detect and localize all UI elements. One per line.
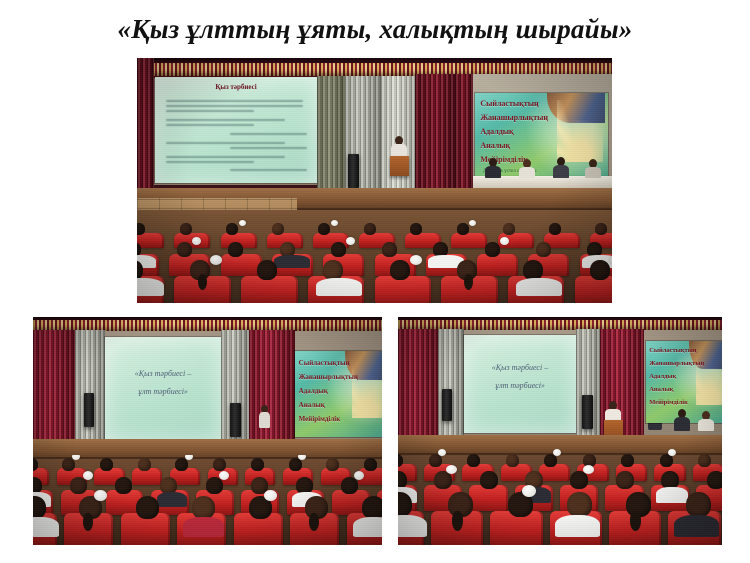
panelist-4 <box>585 159 601 178</box>
stage-figure <box>257 405 271 439</box>
presentation-slide: «Қыз ұлттың ұяты, халықтың шырайы» Қыз т… <box>0 0 750 563</box>
event-banner-bottom-left: Сыйластықтың Жанашырлықтың Адалдық Аналы… <box>295 351 382 437</box>
projection-screen-top: Қыз тәрбиесі <box>155 77 317 183</box>
slide-heading-text: Қыз тәрбиесі <box>155 83 317 91</box>
photo-stage-and-audience-right: «Қыз тәрбиесі – ұлт тәрбиесі» <box>398 317 722 545</box>
audience-seating-bottom-right <box>398 449 722 545</box>
curtain-center-right <box>415 74 457 206</box>
curtain-right <box>455 74 473 206</box>
panelist-1 <box>485 158 501 178</box>
projection-screen-bottom-right: «Қыз тәрбиесі – ұлт тәрбиесі» <box>464 335 576 433</box>
banner-line-4-br: Аналық <box>649 386 673 393</box>
stage-loudspeaker-left-icon <box>84 393 94 427</box>
hall-scene-bottom-right: «Қыз тәрбиесі – ұлт тәрбиесі» <box>398 317 722 545</box>
shanyrak-ornament-icon-br <box>696 348 722 405</box>
podium <box>390 156 409 176</box>
banner-line-1-br: Сыйластықтың <box>649 347 696 354</box>
stage-loudspeaker-right-icon-br <box>582 395 593 429</box>
screen-quote-line-1-br: «Қыз тәрбиесі – <box>464 363 576 372</box>
presenter-at-podium <box>387 136 411 176</box>
banner-line-3: Адалдық <box>480 127 513 136</box>
banner-line-4-bl: Аналық <box>299 401 325 409</box>
screen-quote-line-2-br: ұлт тәрбиесі» <box>464 381 576 390</box>
audience-seating-bottom-left <box>33 455 382 545</box>
projection-screen-bottom-left: «Қыз тәрбиесі – ұлт тәрбиесі» <box>105 337 221 441</box>
banner-line-3-bl: Адалдық <box>299 387 328 395</box>
shanyrak-ornament-icon <box>557 100 602 162</box>
banner-line-5-bl: Мейірімділік <box>299 415 341 423</box>
banner-line-5-br: Мейірімділік <box>649 399 688 406</box>
banner-line-2-bl: Жанашырлықтың <box>299 373 358 381</box>
stage-loudspeaker-left-icon-br <box>442 389 452 421</box>
banner-line-1-bl: Сыйластықтың <box>299 359 350 367</box>
seat-row-near-bl <box>33 509 382 545</box>
photo-assembly-hall-wide-view: Қыз тәрбиесі <box>137 58 612 303</box>
hall-scene-top: Қыз тәрбиесі <box>137 58 612 303</box>
seat-row-near-br <box>398 507 722 545</box>
banner-line-3-br: Адалдық <box>649 373 676 380</box>
photo-stage-and-audience-left: «Қыз тәрбиесі – ұлт тәрбиесі» Сыйластықт… <box>33 317 382 545</box>
banner-line-2-br: Жанашырлықтың <box>649 360 704 367</box>
shanyrak-ornament-icon-bl <box>352 358 382 418</box>
stage-loudspeaker-icon <box>348 154 359 188</box>
page-title: «Қыз ұлттың ұяты, халықтың шырайы» <box>0 14 750 45</box>
panelist-3 <box>553 157 569 178</box>
hall-scene-bottom-left: «Қыз тәрбиесі – ұлт тәрбиесі» Сыйластықт… <box>33 317 382 545</box>
panelist-1-br <box>674 409 690 431</box>
slide-body-text <box>166 97 307 174</box>
seat-row-near <box>137 270 612 303</box>
audience-seating-top <box>137 208 612 303</box>
screen-quote-line-2: ұлт тәрбиесі» <box>105 387 221 396</box>
stage-loudspeaker-right-icon <box>230 403 241 437</box>
banner-line-1: Сыйластықтың <box>480 99 538 108</box>
curtain-left <box>137 58 154 208</box>
banner-line-2: Жанашырлықтың <box>480 113 548 122</box>
banner-line-4: Аналық <box>480 141 510 150</box>
screen-quote-line-1: «Қыз тәрбиесі – <box>105 369 221 378</box>
panelist-2-br <box>698 411 714 431</box>
panelist-2 <box>519 159 535 178</box>
